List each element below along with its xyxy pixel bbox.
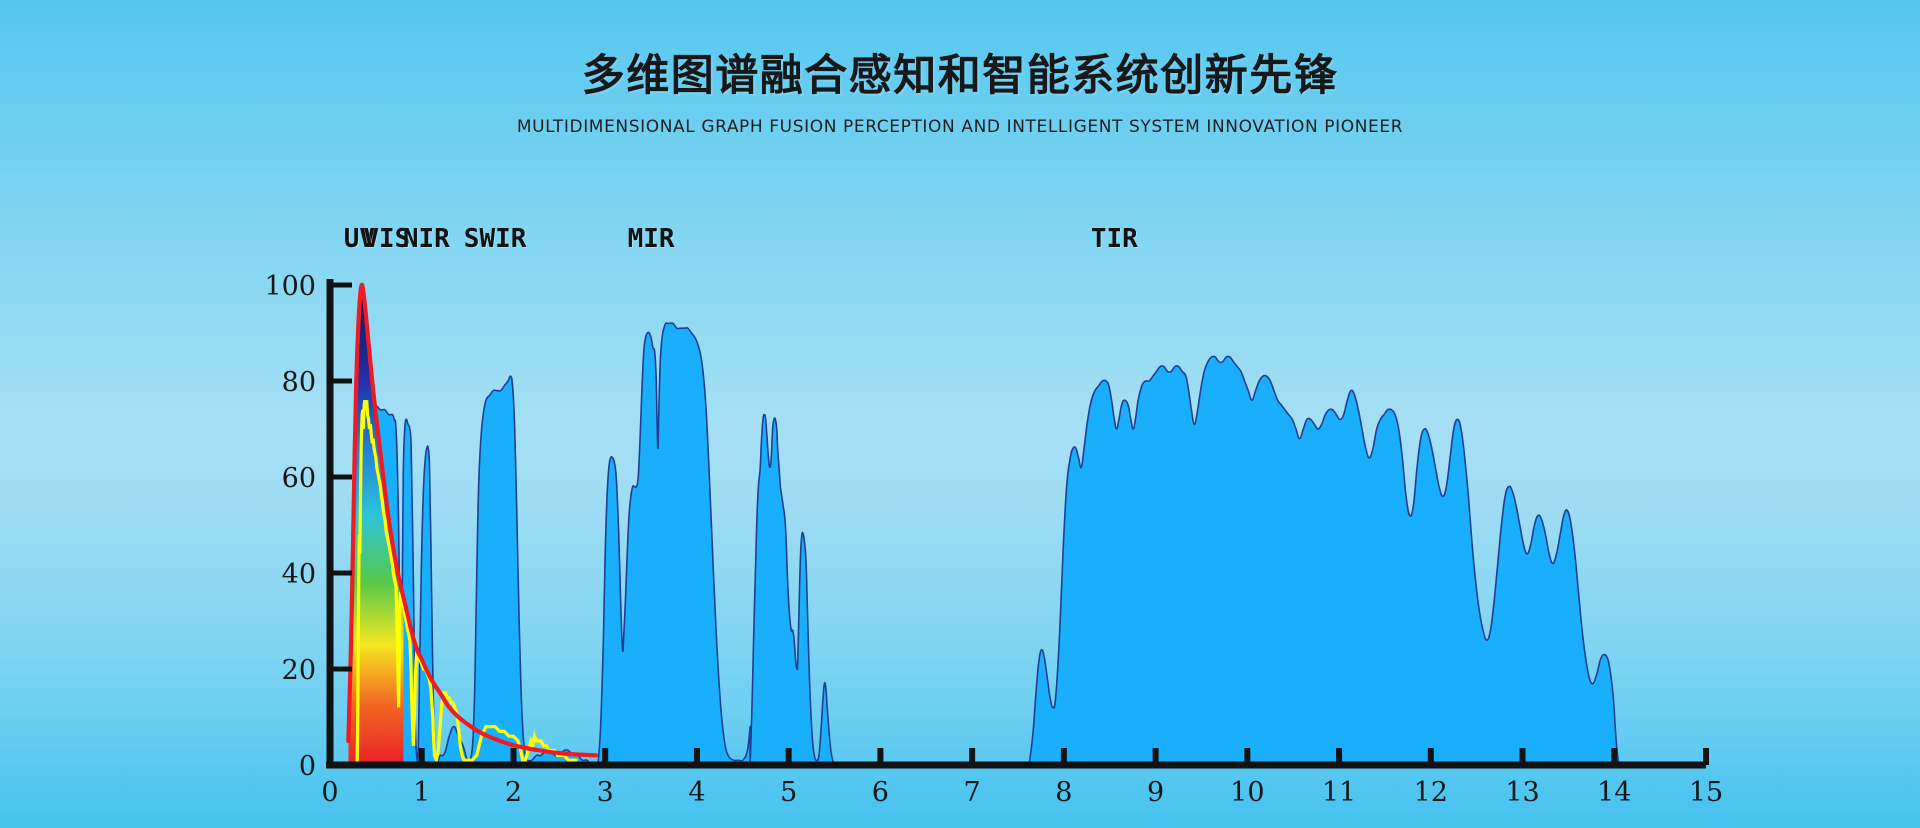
x-tick-label-12: 12 bbox=[1414, 777, 1448, 808]
transmission-band-3 bbox=[1029, 356, 1619, 765]
y-tick-label-40: 40 bbox=[282, 559, 316, 590]
y-tick-label-0: 0 bbox=[299, 751, 316, 782]
x-tick-label-1: 1 bbox=[413, 777, 430, 808]
transmission-band-2 bbox=[750, 415, 834, 765]
transmission-area-layer bbox=[358, 323, 1619, 765]
poster-root: 多维图谱融合感知和智能系统创新先锋 MULTIDIMENSIONAL GRAPH… bbox=[0, 0, 1920, 828]
spectral-transmission-chart: 0123456789101112131415020406080100 bbox=[0, 0, 1920, 828]
x-tick-label-4: 4 bbox=[688, 777, 705, 808]
x-tick-label-15: 15 bbox=[1689, 777, 1723, 808]
y-tick-label-20: 20 bbox=[282, 655, 316, 686]
x-tick-label-10: 10 bbox=[1230, 777, 1264, 808]
x-tick-label-5: 5 bbox=[780, 777, 797, 808]
transmission-band-1 bbox=[598, 323, 750, 765]
x-tick-label-11: 11 bbox=[1322, 777, 1356, 808]
x-tick-label-6: 6 bbox=[872, 777, 889, 808]
x-tick-label-8: 8 bbox=[1055, 777, 1072, 808]
y-tick-label-80: 80 bbox=[282, 367, 316, 398]
x-tick-label-9: 9 bbox=[1147, 777, 1164, 808]
x-tick-label-3: 3 bbox=[597, 777, 614, 808]
x-tick-label-2: 2 bbox=[505, 777, 522, 808]
x-tick-label-0: 0 bbox=[321, 777, 338, 808]
x-tick-label-13: 13 bbox=[1505, 777, 1539, 808]
x-tick-label-14: 14 bbox=[1597, 777, 1631, 808]
y-tick-label-100: 100 bbox=[264, 271, 316, 302]
y-tick-label-60: 60 bbox=[282, 463, 316, 494]
x-tick-label-7: 7 bbox=[964, 777, 981, 808]
